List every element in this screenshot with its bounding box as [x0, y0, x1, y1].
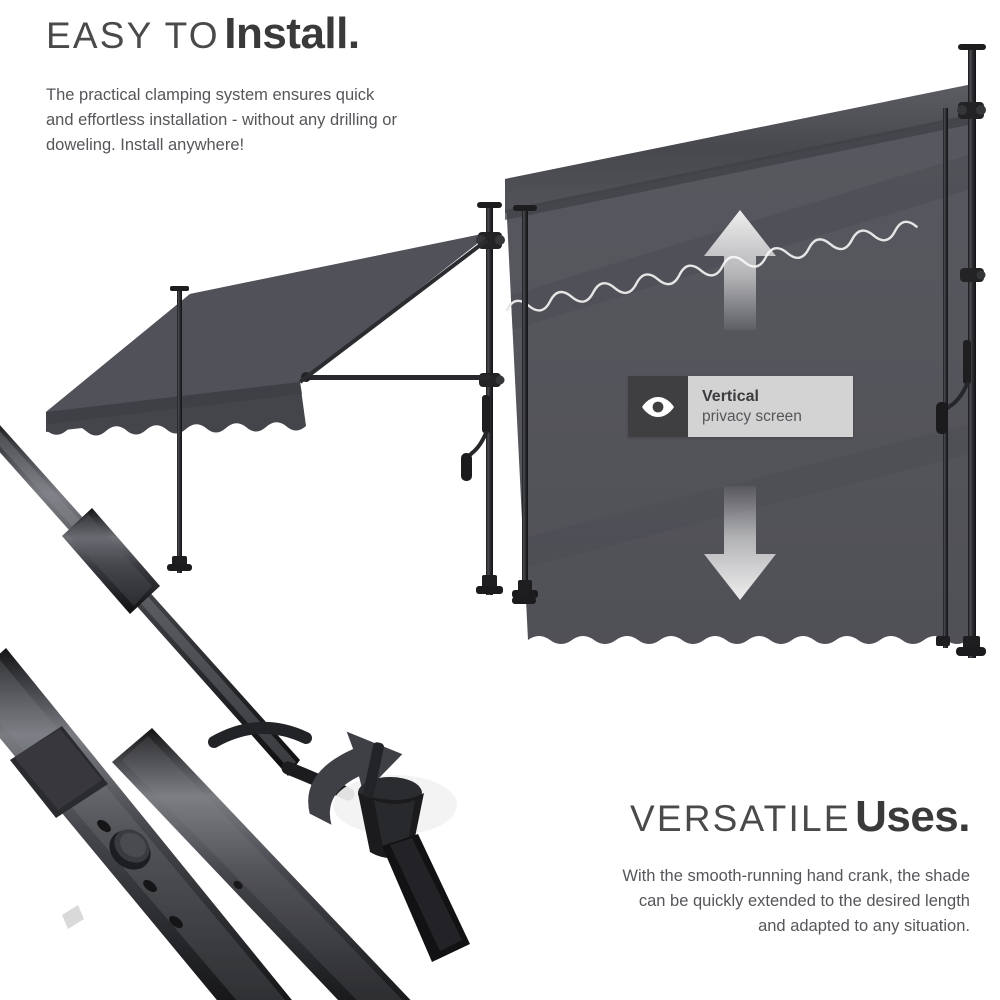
install-heading-thin: EASY TO — [46, 15, 220, 56]
install-heading: EASY TO Install. — [46, 12, 516, 57]
badge-subtitle: privacy screen — [702, 407, 853, 426]
install-body-line-3: doweling. Install anywhere! — [46, 133, 516, 158]
crank-end-cylinder — [358, 742, 470, 962]
privacy-screen-badge: Vertical privacy screen — [628, 376, 853, 437]
uses-body-line-2: can be quickly extended to the desired l… — [510, 889, 970, 914]
left-awning — [46, 232, 492, 436]
install-body-line-2: and effortless installation - without an… — [46, 108, 516, 133]
uses-text-block: VERSATILE Uses. With the smooth-running … — [510, 795, 970, 939]
eye-icon — [640, 396, 676, 418]
badge-text-area: Vertical privacy screen — [688, 376, 853, 437]
telescopic-pole-closeup[interactable] — [0, 648, 300, 1000]
install-body-line-1: The practical clamping system ensures qu… — [46, 83, 516, 108]
uses-body: With the smooth-running hand crank, the … — [510, 864, 970, 939]
crank-center[interactable] — [461, 395, 490, 481]
uses-body-line-3: and adapted to any situation. — [510, 914, 970, 939]
latch-pin — [62, 905, 84, 929]
install-text-block: EASY TO Install. The practical clamping … — [46, 12, 516, 158]
uses-heading: VERSATILE Uses. — [510, 795, 970, 840]
left-awning-shade — [46, 232, 492, 412]
uses-heading-bold: Uses. — [855, 792, 970, 841]
pole-center-main[interactable] — [476, 202, 505, 595]
support-arm-horizontal — [301, 372, 491, 382]
uses-body-line-1: With the smooth-running hand crank, the … — [510, 864, 970, 889]
infographic-canvas: EASY TO Install. The practical clamping … — [0, 0, 1000, 1000]
install-body: The practical clamping system ensures qu… — [46, 83, 516, 158]
closeup-crank-assembly — [0, 414, 420, 1000]
install-heading-bold: Install. — [224, 9, 359, 58]
uses-heading-thin: VERSATILE — [630, 798, 851, 839]
badge-title: Vertical — [702, 387, 853, 407]
badge-icon-area — [628, 376, 688, 437]
